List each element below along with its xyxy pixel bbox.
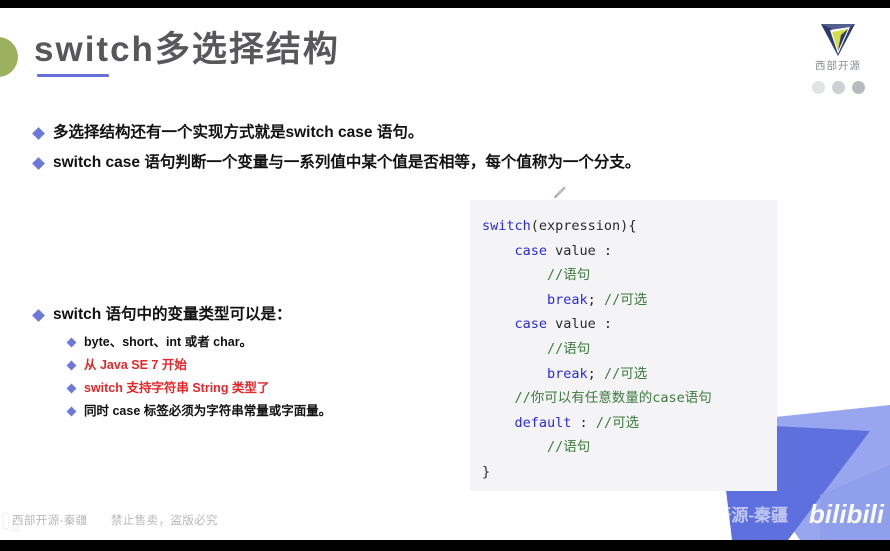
sub-bullet-item-4: 同时 case 标签必须为字符串常量或字面量。	[68, 404, 331, 418]
sub-bullet-label: 从 Java SE 7 开始	[84, 359, 187, 372]
code-token: :	[571, 415, 595, 431]
sub-bullet-label: switch 支持字符串 String 类型了	[84, 382, 269, 395]
bullet-item-variable-types-heading: switch 语句中的变量类型可以是：	[34, 307, 292, 323]
code-token	[482, 439, 547, 455]
code-token: case	[515, 243, 548, 259]
code-token: //语句	[547, 341, 590, 357]
footer-brand-label: 西部开源-秦疆	[12, 515, 88, 527]
brand-dot-2	[832, 81, 845, 94]
code-token	[482, 316, 515, 332]
code-token	[482, 341, 547, 357]
uploader-watermark: 西部开源-秦疆	[680, 507, 788, 524]
pencil-cursor-icon	[552, 186, 566, 202]
bullet-item-intro-2: switch case 语句判断一个变量与一系列值中某个值是否相等，每个值称为一…	[34, 155, 640, 171]
bullet-label: switch 语句中的变量类型可以是：	[53, 307, 292, 323]
diamond-bullet-icon	[34, 307, 53, 323]
brand-logo: 西部开源	[800, 20, 876, 94]
title-underline	[37, 74, 109, 77]
code-token: //可选	[596, 415, 639, 431]
brand-dot-1	[812, 81, 825, 94]
title-block: switch多选择结构	[34, 30, 340, 77]
bilibili-watermark: bilibili	[809, 501, 884, 527]
bullet-item-intro-1: 多选择结构还有一个实现方式就是switch case 语句。	[34, 125, 423, 141]
video-player: switch多选择结构 多选择结构还有一个实现方式就是switch case 语…	[0, 0, 890, 551]
sub-bullet-label: 同时 case 标签必须为字符串常量或字面量。	[84, 405, 331, 418]
sub-bullet-item-1: byte、short、int 或者 char。	[68, 335, 252, 349]
brand-dots	[800, 81, 876, 94]
code-token: ;	[588, 366, 604, 382]
code-token	[482, 292, 547, 308]
sub-bullet-item-3: switch 支持字符串 String 类型了	[68, 381, 269, 395]
code-token: switch	[482, 218, 531, 234]
green-circle-decoration	[0, 37, 18, 77]
code-token: value :	[547, 316, 612, 332]
diamond-bullet-icon	[68, 404, 84, 418]
code-token: value :	[547, 243, 612, 259]
code-snippet-panel: switch(expression){ case value : //语句 br…	[470, 200, 777, 491]
code-token: //可选	[604, 292, 647, 308]
code-snippet-text: switch(expression){ case value : //语句 br…	[470, 214, 777, 485]
code-token: //语句	[547, 267, 590, 283]
code-token: //你可以有任意数量的case语句	[515, 390, 712, 406]
code-token	[482, 366, 547, 382]
sub-bullet-label: byte、short、int 或者 char。	[84, 336, 252, 349]
code-token	[482, 243, 515, 259]
bullet-label: 多选择结构还有一个实现方式就是switch case 语句。	[53, 125, 423, 141]
code-token	[482, 390, 515, 406]
diamond-bullet-icon	[34, 125, 53, 141]
code-token	[482, 415, 515, 431]
code-token: ;	[588, 292, 604, 308]
bullet-label: switch case 语句判断一个变量与一系列值中某个值是否相等，每个值称为一…	[53, 155, 640, 171]
brand-triangle-icon	[817, 20, 859, 60]
brand-name-label: 西部开源	[800, 61, 876, 72]
sub-bullet-item-2: 从 Java SE 7 开始	[68, 358, 187, 372]
code-token: case	[515, 316, 548, 332]
letterbox-bottom	[0, 540, 890, 551]
diamond-bullet-icon	[68, 358, 84, 372]
footer-watermark-text: 西部开源-秦疆 禁止售卖，盗版必究	[12, 516, 218, 528]
diamond-bullet-icon	[68, 335, 84, 349]
diamond-bullet-icon	[34, 155, 53, 171]
code-token: }	[482, 464, 490, 480]
slide-canvas: switch多选择结构 多选择结构还有一个实现方式就是switch case 语…	[0, 8, 890, 540]
code-token	[482, 267, 547, 283]
code-token: //语句	[547, 439, 590, 455]
code-token: default	[515, 415, 572, 431]
code-token: break	[547, 292, 588, 308]
code-token: //可选	[604, 366, 647, 382]
code-token: break	[547, 366, 588, 382]
letterbox-top	[0, 0, 890, 8]
page-title: switch多选择结构	[34, 30, 340, 70]
diamond-bullet-icon	[68, 381, 84, 395]
code-token: (expression){	[531, 218, 637, 234]
footer-notice-label: 禁止售卖，盗版必究	[111, 515, 218, 527]
brand-dot-3	[852, 81, 865, 94]
